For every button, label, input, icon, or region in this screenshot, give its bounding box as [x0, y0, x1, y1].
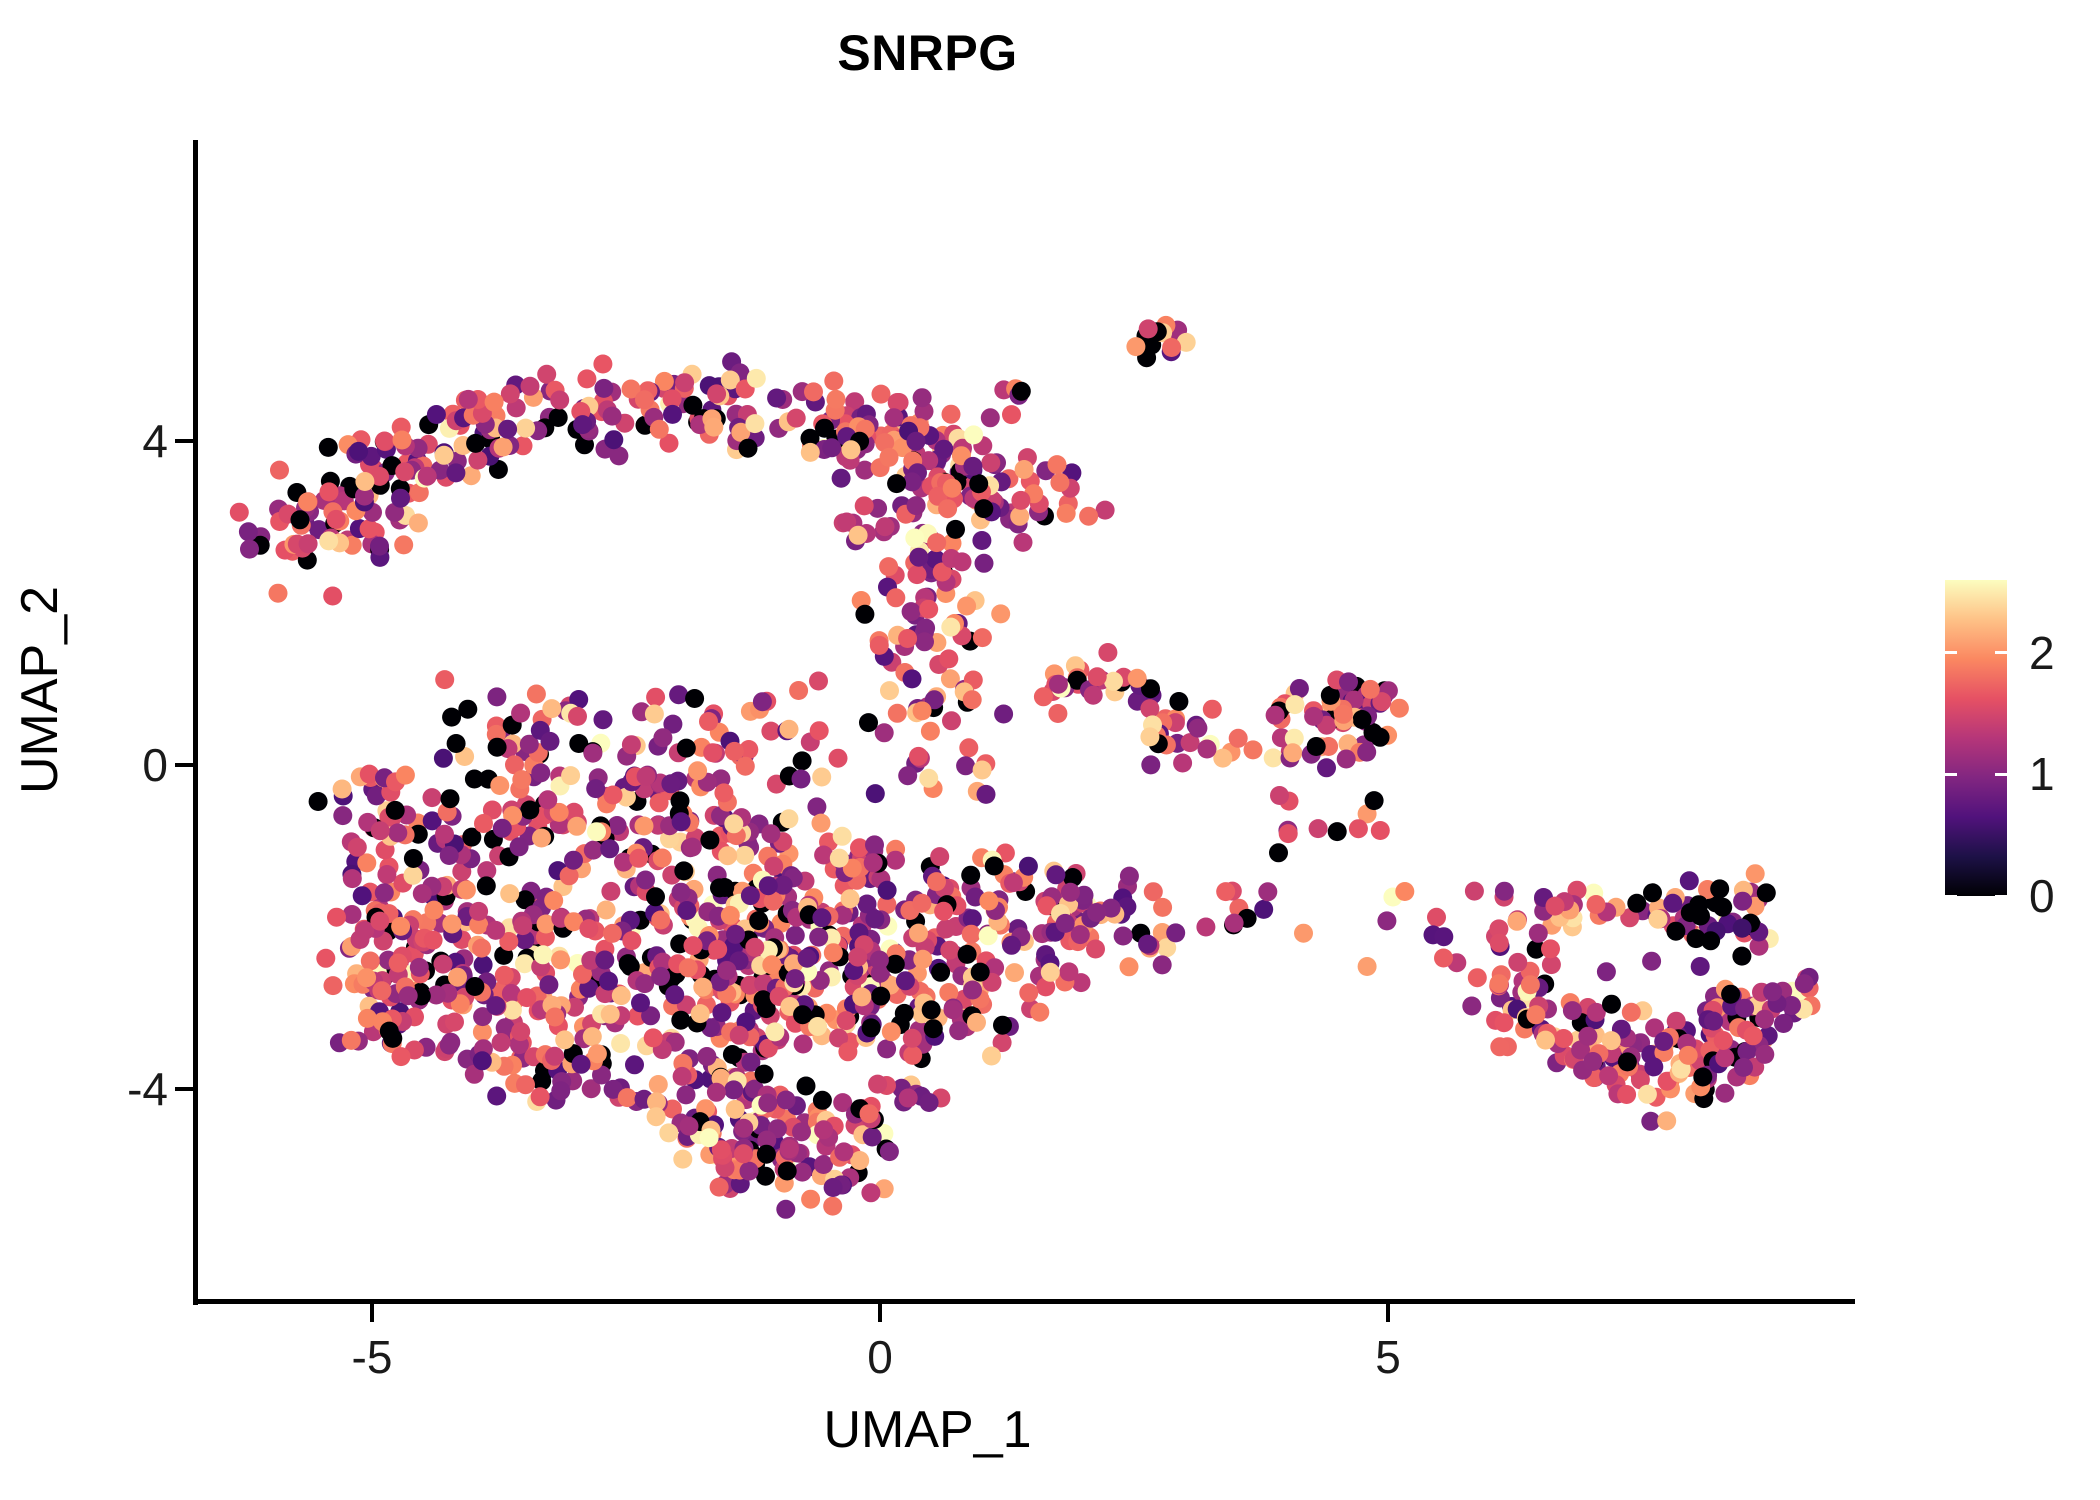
scatter-point — [824, 372, 843, 391]
scatter-point — [551, 1081, 570, 1100]
scatter-point — [898, 629, 917, 648]
scatter-point — [963, 981, 982, 1000]
scatter-point — [1004, 873, 1023, 892]
scatter-point — [862, 1018, 881, 1037]
scatter-point — [981, 453, 1000, 472]
scatter-point — [230, 503, 249, 522]
scatter-point — [683, 396, 702, 415]
scatter-point — [908, 565, 927, 584]
scatter-point — [765, 1022, 784, 1041]
scatter-point — [517, 988, 536, 1007]
scatter-point — [969, 474, 988, 493]
scatter-point — [809, 672, 828, 691]
scatter-point — [1041, 963, 1060, 982]
scatter-point — [1583, 1052, 1602, 1071]
scatter-point — [683, 838, 702, 857]
scatter-point — [1173, 754, 1192, 773]
scatter-point — [434, 955, 453, 974]
scatter-point — [1681, 903, 1700, 922]
scatter-point — [473, 1051, 492, 1070]
scatter-point — [1763, 982, 1782, 1001]
y-tick-label: -4 — [127, 1062, 168, 1116]
scatter-point — [320, 482, 339, 501]
scatter-point — [579, 919, 598, 938]
scatter-point — [1508, 912, 1527, 931]
scatter-point — [921, 722, 940, 741]
scatter-point — [348, 838, 367, 857]
scatter-point — [913, 388, 932, 407]
scatter-point — [794, 1035, 813, 1054]
scatter-point — [848, 948, 867, 967]
colorbar-tick-mark — [1945, 651, 1957, 654]
scatter-point — [511, 1022, 530, 1041]
scatter-point — [353, 886, 372, 905]
scatter-point — [1216, 882, 1235, 901]
scatter-point — [675, 373, 694, 392]
scatter-point — [1339, 672, 1358, 691]
scatter-point — [759, 876, 778, 895]
scatter-point — [849, 526, 868, 545]
scatter-point — [1140, 699, 1159, 718]
scatter-point — [1153, 955, 1172, 974]
scatter-point — [829, 749, 848, 768]
scatter-point — [541, 732, 560, 751]
scatter-point — [787, 409, 806, 428]
scatter-point — [1358, 957, 1377, 976]
scatter-point — [1229, 729, 1248, 748]
scatter-point — [717, 961, 736, 980]
scatter-point — [659, 1123, 678, 1142]
scatter-point — [653, 849, 672, 868]
scatter-point — [747, 369, 766, 388]
scatter-point — [907, 432, 926, 451]
scatter-point — [1495, 1013, 1514, 1032]
scatter-point — [808, 1017, 827, 1036]
scatter-point — [710, 1178, 729, 1197]
scatter-point — [1225, 914, 1244, 933]
scatter-point — [726, 1100, 745, 1119]
scatter-point — [838, 1042, 857, 1061]
scatter-point — [1578, 1027, 1597, 1046]
scatter-point — [852, 987, 871, 1006]
scatter-point — [1285, 695, 1304, 714]
scatter-point — [1618, 1052, 1637, 1071]
scatter-point — [486, 921, 505, 940]
scatter-point — [1258, 882, 1277, 901]
scatter-point — [898, 766, 917, 785]
scatter-point — [377, 865, 396, 884]
scatter-point — [909, 548, 928, 567]
scatter-point — [915, 632, 934, 651]
scatter-point — [1088, 667, 1107, 686]
scatter-point — [1096, 501, 1115, 520]
scatter-point — [909, 924, 928, 943]
scatter-point — [798, 949, 817, 968]
scatter-point — [309, 792, 328, 811]
scatter-point — [875, 723, 894, 742]
scatter-point — [594, 710, 613, 729]
scatter-point — [549, 408, 568, 427]
scatter-point — [1059, 962, 1078, 981]
scatter-point — [913, 950, 932, 969]
scatter-point — [440, 1036, 459, 1055]
scatter-point — [1371, 821, 1390, 840]
scatter-point — [510, 837, 529, 856]
scatter-point — [1048, 455, 1067, 474]
scatter-point — [418, 467, 437, 486]
scatter-point — [511, 704, 530, 723]
scatter-point — [650, 420, 669, 439]
scatter-point — [465, 977, 484, 996]
scatter-point — [905, 529, 924, 548]
scatter-point — [1254, 900, 1273, 919]
scatter-point — [865, 910, 884, 929]
scatter-point — [994, 705, 1013, 724]
scatter-point — [1019, 983, 1038, 1002]
x-tick-label: 5 — [1375, 1330, 1401, 1384]
scatter-point — [902, 602, 921, 621]
scatter-point — [1304, 707, 1323, 726]
scatter-point — [1490, 974, 1509, 993]
scatter-point — [1048, 704, 1067, 723]
scatter-point — [333, 806, 352, 825]
scatter-point — [1128, 669, 1147, 688]
scatter-point — [599, 972, 618, 991]
scatter-point — [943, 479, 962, 498]
scatter-point — [493, 819, 512, 838]
scatter-point — [612, 986, 631, 1005]
scatter-point — [896, 971, 915, 990]
scatter-point — [609, 446, 628, 465]
scatter-point — [240, 540, 259, 559]
scatter-point — [1597, 962, 1616, 981]
scatter-point — [1529, 924, 1548, 943]
scatter-point — [704, 418, 723, 437]
scatter-point — [962, 925, 981, 944]
scatter-point — [333, 780, 352, 799]
scatter-point — [1617, 1085, 1636, 1104]
scatter-point — [1395, 882, 1414, 901]
scatter-point — [651, 911, 670, 930]
scatter-point — [1679, 1046, 1698, 1065]
scatter-point — [792, 770, 811, 789]
scatter-point — [661, 774, 680, 793]
scatter-point — [561, 766, 580, 785]
scatter-point — [1114, 927, 1133, 946]
scatter-point — [685, 689, 704, 708]
scatter-point — [404, 849, 423, 868]
scatter-point — [1434, 949, 1453, 968]
scatter-point — [888, 704, 907, 723]
scatter-point — [1353, 710, 1372, 729]
scatter-point — [516, 1075, 535, 1094]
scatter-point — [739, 439, 758, 458]
scatter-point — [912, 894, 931, 913]
scatter-point — [755, 1065, 774, 1084]
scatter-point — [396, 766, 415, 785]
scatter-point — [767, 389, 786, 408]
scatter-point — [495, 966, 514, 985]
scatter-point — [1701, 931, 1720, 950]
scatter-point — [723, 1045, 742, 1064]
scatter-point — [939, 649, 958, 668]
scatter-point — [1733, 919, 1752, 938]
scatter-point — [1166, 923, 1185, 942]
scatter-point — [780, 720, 799, 739]
scatter-point — [1710, 879, 1729, 898]
scatter-point — [734, 1144, 753, 1163]
scatter-point — [703, 743, 722, 762]
colorbar-tick-mark — [1995, 895, 2007, 898]
scatter-point — [583, 744, 602, 763]
colorbar-tick-label: 0 — [2029, 869, 2055, 923]
scatter-point — [1721, 985, 1740, 1004]
scatter-point — [907, 496, 926, 515]
scatter-point — [963, 690, 982, 709]
scatter-point — [1014, 533, 1033, 552]
scatter-point — [1715, 1084, 1734, 1103]
scatter-point — [487, 1087, 506, 1106]
scatter-point — [1733, 892, 1752, 911]
scatter-point — [1079, 507, 1098, 526]
scatter-point — [1290, 679, 1309, 698]
scatter-point — [539, 975, 558, 994]
scatter-point — [700, 1128, 719, 1147]
scatter-point — [938, 499, 957, 518]
x-tick-label: -5 — [352, 1330, 393, 1384]
scatter-point — [870, 636, 889, 655]
scatter-point — [595, 951, 614, 970]
scatter-point — [388, 823, 407, 842]
scatter-point — [409, 514, 428, 533]
scatter-point — [513, 916, 532, 935]
scatter-point — [913, 701, 932, 720]
scatter-point — [1536, 1031, 1555, 1050]
scatter-point — [391, 489, 410, 508]
scatter-point — [622, 735, 641, 754]
scatter-point — [1526, 1005, 1545, 1024]
scatter-point — [860, 1104, 879, 1123]
colorbar-tick-mark — [1945, 895, 1957, 898]
scatter-point — [749, 911, 768, 930]
scatter-point — [1283, 743, 1302, 762]
scatter-point — [726, 925, 745, 944]
scatter-point — [394, 535, 413, 554]
scatter-point — [448, 968, 467, 987]
scatter-point — [650, 793, 669, 812]
scatter-point — [572, 1055, 591, 1074]
scatter-point — [1084, 686, 1103, 705]
scatter-point — [555, 1030, 574, 1049]
scatter-point — [776, 1200, 795, 1219]
scatter-point — [669, 685, 688, 704]
scatter-point — [886, 955, 905, 974]
scatter-plot-panel — [195, 140, 1855, 1302]
scatter-point — [807, 797, 826, 816]
scatter-point — [1643, 883, 1662, 902]
scatter-point — [494, 438, 513, 457]
page-title: SNRPG — [0, 24, 1855, 82]
scatter-point — [239, 522, 258, 541]
scatter-point — [961, 866, 980, 885]
x-tick-mark — [878, 1304, 882, 1322]
scatter-point — [757, 1145, 776, 1164]
scatter-point — [441, 789, 460, 808]
scatter-point — [361, 952, 380, 971]
scatter-point — [679, 958, 698, 977]
scatter-point — [967, 1013, 986, 1032]
scatter-point — [360, 519, 379, 538]
scatter-point — [1120, 957, 1139, 976]
scatter-point — [1755, 1010, 1774, 1029]
scatter-point — [871, 987, 890, 1006]
scatter-point — [899, 1089, 918, 1108]
scatter-point — [832, 469, 851, 488]
scatter-point — [635, 390, 654, 409]
scatter-point — [618, 1088, 637, 1107]
scatter-point — [1495, 882, 1514, 901]
scatter-point — [646, 887, 665, 906]
scatter-point — [1270, 786, 1289, 805]
scatter-point — [780, 1139, 799, 1158]
scatter-point — [673, 1067, 692, 1086]
scatter-point — [812, 908, 831, 927]
scatter-point — [812, 814, 831, 833]
scatter-point — [1057, 504, 1076, 523]
scatter-point — [714, 783, 733, 802]
scatter-point — [740, 1162, 759, 1181]
scatter-point — [468, 451, 487, 470]
scatter-point — [880, 448, 899, 467]
scatter-point — [319, 438, 338, 457]
scatter-point — [693, 978, 712, 997]
scatter-point — [395, 462, 414, 481]
scatter-point — [1465, 882, 1484, 901]
x-axis-label: UMAP_1 — [0, 1400, 1855, 1460]
scatter-point — [298, 493, 317, 512]
scatter-point — [735, 846, 754, 865]
scatter-point — [964, 425, 983, 444]
scatter-point — [588, 1044, 607, 1063]
scatter-point — [712, 1003, 731, 1022]
scatter-point — [1734, 1058, 1753, 1077]
scatter-point — [342, 1031, 361, 1050]
scatter-point — [371, 821, 390, 840]
scatter-point — [919, 600, 938, 619]
scatter-point — [991, 604, 1010, 623]
scatter-point — [861, 1183, 880, 1202]
scatter-point — [793, 1005, 812, 1024]
scatter-point — [474, 955, 493, 974]
scatter-point — [500, 884, 519, 903]
scatter-point — [1337, 750, 1356, 769]
scatter-point — [319, 531, 338, 550]
scatter-point — [603, 407, 622, 426]
scatter-point — [537, 365, 556, 384]
scatter-point — [446, 463, 465, 482]
scatter-point — [942, 405, 961, 424]
y-axis-label: UMAP_2 — [10, 370, 70, 1010]
scatter-point — [343, 869, 362, 888]
scatter-point — [953, 552, 972, 571]
scatter-point — [469, 902, 488, 921]
scatter-point — [604, 430, 623, 449]
scatter-point — [887, 474, 906, 493]
scatter-point — [814, 1120, 833, 1139]
scatter-point — [538, 790, 557, 809]
scatter-point — [1468, 968, 1487, 987]
scatter-point — [824, 1178, 843, 1197]
scatter-point — [975, 554, 994, 573]
scatter-point — [710, 878, 729, 897]
scatter-point — [1264, 748, 1283, 767]
scatter-point — [1357, 743, 1376, 762]
scatter-point — [1061, 883, 1080, 902]
scatter-point — [521, 377, 540, 396]
scatter-point — [1599, 1066, 1618, 1085]
scatter-point — [1019, 857, 1038, 876]
scatter-point — [349, 442, 368, 461]
scatter-point — [1188, 719, 1207, 738]
scatter-point — [884, 408, 903, 427]
scatter-point — [724, 1080, 743, 1099]
scatter-point — [778, 1162, 797, 1181]
scatter-point — [1704, 1012, 1723, 1031]
scatter-point — [963, 457, 982, 476]
scatter-point — [1002, 936, 1021, 955]
scatter-point — [601, 882, 620, 901]
scatter-point — [674, 861, 693, 880]
scatter-point — [1328, 822, 1347, 841]
scatter-point — [1642, 952, 1661, 971]
scatter-point — [700, 831, 719, 850]
scatter-point — [919, 769, 938, 788]
scatter-point — [542, 699, 561, 718]
scatter-point — [671, 791, 690, 810]
scatter-point — [1162, 338, 1181, 357]
scatter-point — [789, 681, 808, 700]
scatter-point — [1015, 460, 1034, 479]
scatter-point — [531, 1087, 550, 1106]
scatter-point — [625, 1055, 644, 1074]
scatter-point — [1644, 1057, 1663, 1076]
scatter-point — [594, 379, 613, 398]
scatter-point — [587, 822, 606, 841]
scatter-point — [944, 1000, 963, 1019]
scatter-point — [801, 443, 820, 462]
scatter-point — [472, 939, 491, 958]
scatter-point — [1390, 699, 1409, 718]
scatter-point — [1011, 491, 1030, 510]
scatter-point — [736, 757, 755, 776]
scatter-point — [637, 767, 656, 786]
scatter-point — [636, 871, 655, 890]
y-tick-mark — [175, 1087, 193, 1091]
scatter-point — [879, 557, 898, 576]
scatter-point — [903, 669, 922, 688]
scatter-point — [370, 912, 389, 931]
scatter-point — [940, 941, 959, 960]
scatter-point — [323, 587, 342, 606]
scatter-point — [1377, 911, 1396, 930]
scatter-point — [327, 908, 346, 927]
scatter-point — [653, 728, 672, 747]
scatter-point — [567, 817, 586, 836]
scatter-point — [804, 382, 823, 401]
scatter-point — [459, 390, 478, 409]
scatter-point — [810, 721, 829, 740]
scatter-point — [833, 827, 852, 846]
